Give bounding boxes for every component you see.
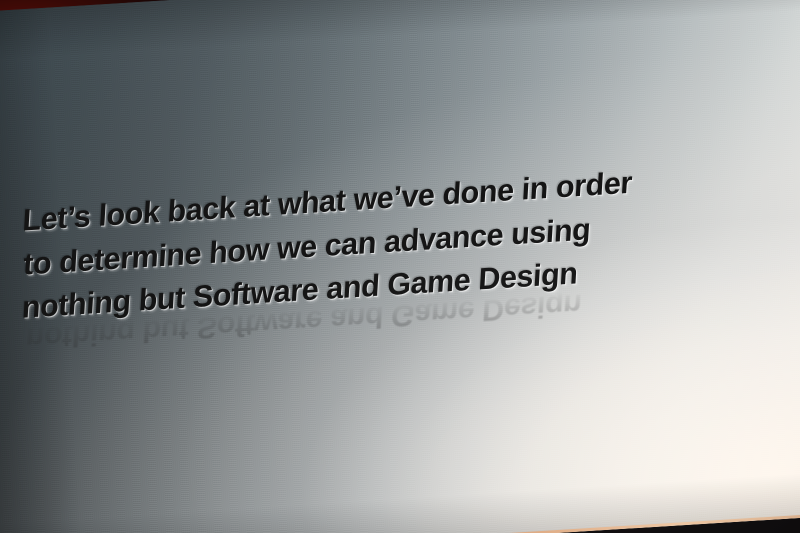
screenshot-stage: Let’s look back at what we’ve done in or…	[0, 0, 800, 533]
projection-screen[interactable]: Let’s look back at what we’ve done in or…	[0, 0, 800, 533]
projection-screen-wrapper: Let’s look back at what we’ve done in or…	[0, 0, 800, 533]
